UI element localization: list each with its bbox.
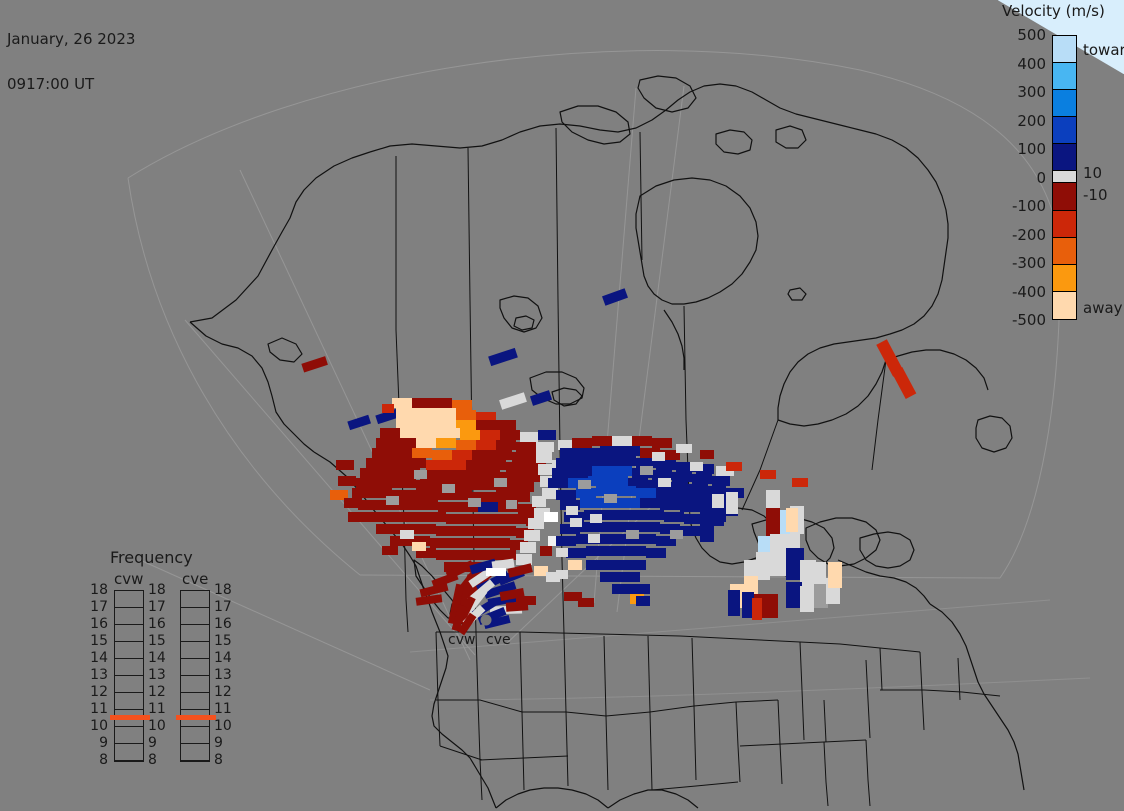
radar-echo-cells (301, 288, 916, 620)
fov-graticule (128, 51, 1060, 690)
velocity-tick-400: 400 (1017, 55, 1046, 73)
velocity-inner-low-label: -10 (1083, 186, 1108, 204)
velocity-tick-100: 100 (1017, 140, 1046, 158)
frequency-column-cvw: cvw (114, 570, 143, 588)
radar-site-dot (481, 615, 492, 626)
frequency-tick-16: 16 (214, 616, 232, 632)
frequency-legend-title: Frequency (110, 548, 193, 567)
velocity-band--350 (1053, 265, 1076, 292)
frequency-segment (115, 676, 143, 693)
frequency-tick-18: 18 (90, 582, 108, 598)
frequency-tick-9: 9 (99, 735, 108, 751)
frequency-tick-13: 13 (214, 667, 232, 683)
frequency-segment (181, 693, 209, 710)
velocity-tick--100: -100 (1012, 197, 1046, 215)
frequency-tick-8: 8 (99, 752, 108, 768)
frequency-tick-18: 18 (148, 582, 166, 598)
frequency-segment (115, 744, 143, 761)
frequency-tick-11: 11 (148, 701, 166, 717)
frequency-tick-15: 15 (90, 633, 108, 649)
frequency-bar-cve (180, 590, 210, 762)
velocity-tick-500: 500 (1017, 26, 1046, 44)
frequency-segment (181, 625, 209, 642)
velocity-band--250 (1053, 238, 1076, 265)
frequency-ticks-mid: 18171615141312111098 (148, 590, 172, 762)
velocity-tick--500: -500 (1012, 311, 1046, 329)
frequency-tick-13: 13 (148, 667, 166, 683)
frequency-segment (115, 591, 143, 608)
frequency-tick-14: 14 (214, 650, 232, 666)
frequency-segment (181, 608, 209, 625)
frequency-column-cve: cve (182, 570, 208, 588)
frequency-tick-10: 10 (90, 718, 108, 734)
frequency-ticks-left: 18171615141312111098 (84, 590, 108, 762)
velocity-band--150 (1053, 211, 1076, 238)
frequency-tick-8: 8 (214, 752, 223, 768)
frequency-tick-12: 12 (148, 684, 166, 700)
frequency-segment (115, 727, 143, 744)
frequency-tick-16: 16 (90, 616, 108, 632)
frequency-segment (181, 676, 209, 693)
velocity-tick-300: 300 (1017, 83, 1046, 101)
frequency-marker-cvw (110, 715, 150, 720)
timestamp: January, 26 2023 0917:00 UT (7, 2, 135, 122)
frequency-tick-11: 11 (214, 701, 232, 717)
frequency-tick-17: 17 (90, 599, 108, 615)
velocity-band-250 (1053, 90, 1076, 117)
velocity-band--450 (1053, 292, 1076, 319)
frequency-tick-12: 12 (90, 684, 108, 700)
frequency-tick-17: 17 (148, 599, 166, 615)
frequency-marker-cve (176, 715, 216, 720)
frequency-tick-10: 10 (214, 718, 232, 734)
velocity-tick-labels: 5004003002001000-100-200-300-400-500 (988, 35, 1046, 320)
frequency-segment (115, 625, 143, 642)
frequency-segment (115, 659, 143, 676)
velocity-inner-high-label: 10 (1083, 164, 1102, 182)
frequency-tick-18: 18 (214, 582, 232, 598)
frequency-tick-17: 17 (214, 599, 232, 615)
timestamp-time: 0917:00 UT (7, 77, 135, 92)
frequency-tick-8: 8 (148, 752, 157, 768)
velocity-band-50 (1053, 144, 1076, 171)
velocity-band-0 (1053, 171, 1076, 183)
frequency-segment (181, 591, 209, 608)
frequency-segment (181, 659, 209, 676)
site-label-cvw: cvw (448, 632, 475, 648)
frequency-segment (115, 693, 143, 710)
velocity-legend-title: Velocity (m/s) (1002, 2, 1124, 20)
frequency-legend: Frequency cvw cve 18171615141312111098 1… (82, 548, 242, 783)
velocity-colorbar (1052, 35, 1077, 320)
frequency-segment (115, 642, 143, 659)
velocity-tick--400: -400 (1012, 283, 1046, 301)
frequency-tick-15: 15 (148, 633, 166, 649)
velocity-legend: Velocity (m/s) 5004003002001000-100-200-… (988, 0, 1124, 340)
velocity-band-350 (1053, 63, 1076, 90)
frequency-tick-14: 14 (148, 650, 166, 666)
velocity-tick-0: 0 (1036, 169, 1046, 187)
velocity-band-150 (1053, 117, 1076, 144)
frequency-segment (115, 608, 143, 625)
frequency-segment (181, 727, 209, 744)
frequency-tick-10: 10 (148, 718, 166, 734)
velocity-band--50 (1053, 183, 1076, 210)
frequency-tick-13: 13 (90, 667, 108, 683)
frequency-bar-cvw (114, 590, 144, 762)
frequency-tick-14: 14 (90, 650, 108, 666)
frequency-tick-15: 15 (214, 633, 232, 649)
velocity-tick--300: -300 (1012, 254, 1046, 272)
frequency-tick-12: 12 (214, 684, 232, 700)
frequency-segment (181, 642, 209, 659)
timestamp-date: January, 26 2023 (7, 32, 135, 47)
frequency-tick-16: 16 (148, 616, 166, 632)
radar-map-canvas: January, 26 2023 0917:00 UT cvw cve Velo… (0, 0, 1124, 811)
velocity-toward-label: toward (1083, 41, 1124, 59)
frequency-ticks-right: 18171615141312111098 (214, 590, 238, 762)
frequency-tick-9: 9 (214, 735, 223, 751)
site-label-cve: cve (486, 632, 511, 648)
frequency-tick-11: 11 (90, 701, 108, 717)
velocity-band-450 (1053, 36, 1076, 63)
frequency-segment (181, 744, 209, 761)
velocity-away-label: away (1083, 299, 1123, 317)
velocity-tick--200: -200 (1012, 226, 1046, 244)
frequency-tick-9: 9 (148, 735, 157, 751)
velocity-tick-200: 200 (1017, 112, 1046, 130)
